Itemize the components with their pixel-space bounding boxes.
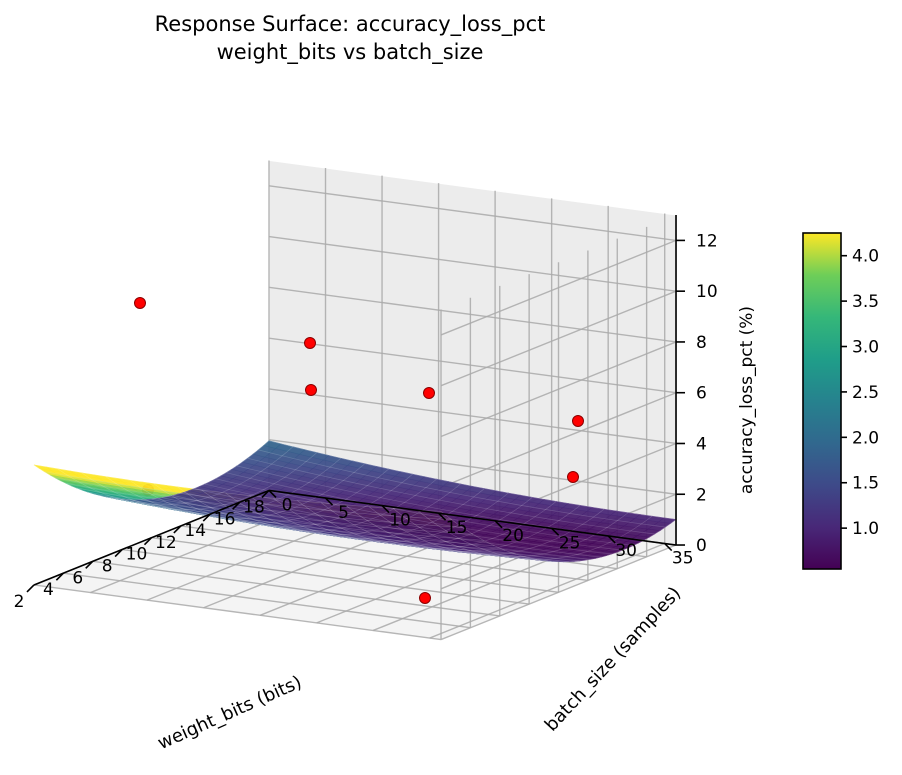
z-tick-label: 8 [696, 333, 707, 353]
colorbar[interactable]: 1.01.52.02.53.03.54.0 [803, 233, 879, 569]
y-tick-label: 5 [338, 503, 349, 523]
scatter-point[interactable] [568, 472, 579, 483]
z-tick-label: 2 [696, 485, 707, 505]
z-tick-label: 12 [696, 231, 718, 251]
x-tick-label: 16 [214, 509, 236, 529]
colorbar-tick-label: 4.0 [852, 247, 879, 267]
y-axis-label: batch_size (samples) [541, 583, 685, 736]
x-tick-label: 8 [102, 557, 113, 577]
y-tick-label: 25 [559, 533, 581, 553]
x-tick-label: 2 [14, 592, 25, 612]
z-tick-label: 6 [696, 384, 707, 404]
z-axis-label: accuracy_loss_pct (%) [737, 306, 757, 494]
x-tick-label: 6 [72, 568, 83, 588]
colorbar-gradient-bar[interactable] [803, 233, 841, 569]
scatter-point[interactable] [573, 416, 584, 427]
x-tick [27, 585, 34, 592]
z-tick-label: 10 [696, 282, 718, 302]
y-tick-label: 15 [446, 518, 468, 538]
y-tick-label: 10 [389, 511, 411, 531]
colorbar-tick-label: 1.0 [852, 519, 879, 539]
scatter-point[interactable] [305, 338, 316, 349]
scatter-point[interactable] [306, 385, 317, 396]
colorbar-tick-label: 3.0 [852, 338, 879, 358]
colorbar-tick-label: 1.5 [852, 474, 879, 494]
x-tick-label: 18 [243, 497, 265, 517]
colorbar-tick-label: 3.5 [852, 292, 879, 312]
x-tick-label: 12 [155, 533, 177, 553]
colorbar-tick-label: 2.5 [852, 383, 879, 403]
x-tick-label: 4 [43, 580, 54, 600]
y-tick-label: 0 [282, 495, 293, 515]
z-tick-label: 0 [696, 536, 707, 556]
y-tick-label: 35 [672, 549, 694, 569]
figure-canvas: Response Surface: accuracy_loss_pct weig… [0, 0, 902, 775]
x-tick-label: 14 [184, 521, 206, 541]
response-surface-3d-plot: 2468101214161805101520253035024681012wei… [0, 0, 902, 775]
scatter-point[interactable] [135, 298, 146, 309]
scatter-point[interactable] [420, 593, 431, 604]
colorbar-tick-label: 2.0 [852, 428, 879, 448]
x-axis-label: weight_bits (bits) [155, 672, 305, 754]
z-tick-label: 4 [696, 434, 707, 454]
scatter-point[interactable] [424, 388, 435, 399]
x-tick-label: 10 [126, 545, 148, 565]
y-tick-label: 30 [615, 541, 637, 561]
y-tick-label: 20 [502, 526, 524, 546]
